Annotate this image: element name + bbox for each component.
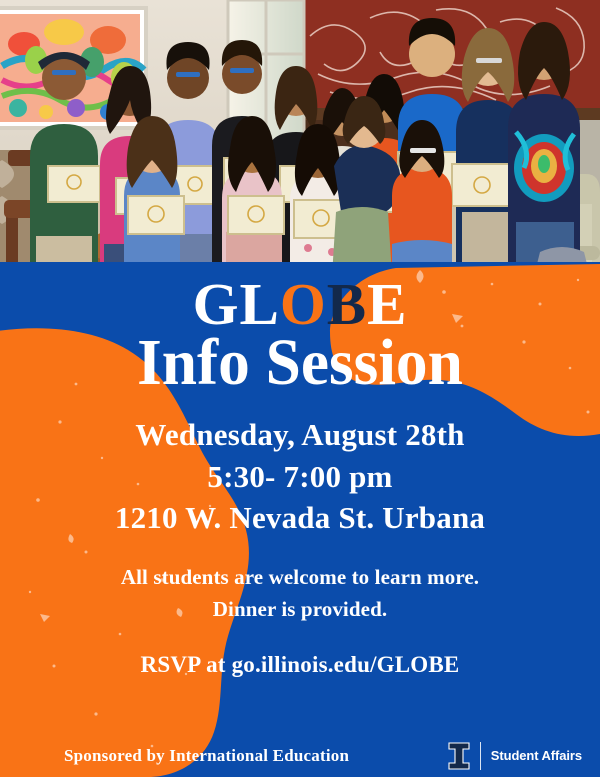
globe-info-session-poster: GLOBE Info Session Wednesday, August 28t… bbox=[0, 0, 600, 777]
description-line-1: All students are welcome to learn more. bbox=[0, 562, 600, 594]
poster-footer: Sponsored by International Education Stu… bbox=[0, 734, 600, 777]
poster-content: GLOBE Info Session Wednesday, August 28t… bbox=[0, 262, 600, 777]
brand-unit-name: Student Affairs bbox=[491, 748, 582, 763]
event-location: 1210 W. Nevada St. Urbana bbox=[0, 497, 600, 539]
description-line-2: Dinner is provided. bbox=[0, 594, 600, 626]
block-i-icon bbox=[448, 742, 470, 770]
group-photo bbox=[0, 0, 600, 276]
event-details: Wednesday, August 28th 5:30- 7:00 pm 121… bbox=[0, 414, 600, 539]
event-description: All students are welcome to learn more. … bbox=[0, 562, 600, 626]
brand-divider bbox=[480, 742, 481, 770]
page-subtitle-info-session: Info Session bbox=[12, 330, 588, 396]
sponsor-text: Sponsored by International Education bbox=[64, 746, 349, 766]
rsvp-link[interactable]: RSVP at go.illinois.edu/GLOBE bbox=[0, 652, 600, 678]
event-date: Wednesday, August 28th bbox=[0, 414, 600, 456]
brand-lockup: Student Affairs bbox=[448, 742, 582, 770]
event-time: 5:30- 7:00 pm bbox=[0, 456, 600, 498]
group-photo-illustration bbox=[0, 0, 600, 276]
